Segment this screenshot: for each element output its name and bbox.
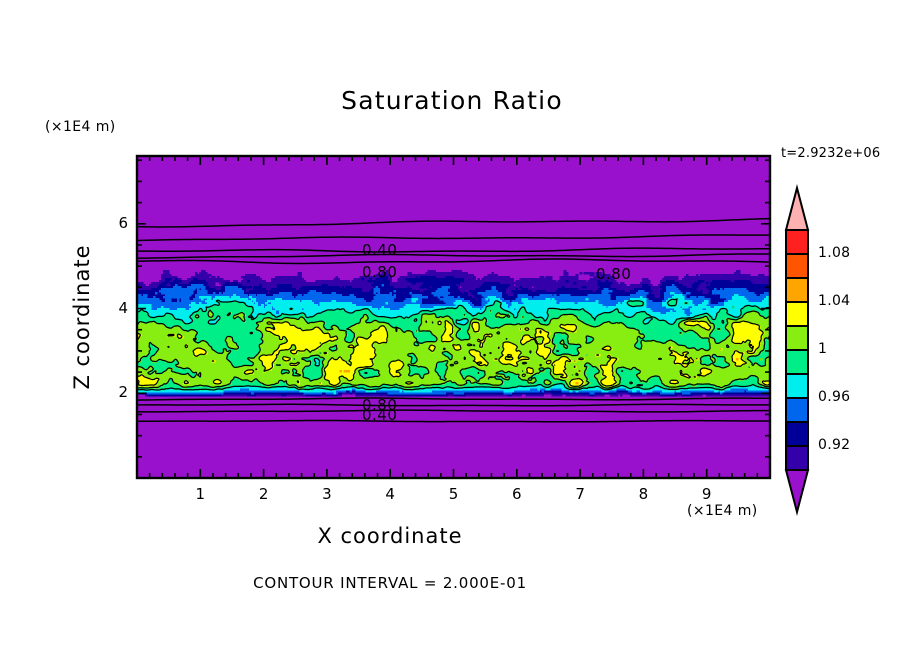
- colorbar-band: [786, 350, 808, 374]
- colorbar-band: [786, 278, 808, 302]
- x-tick-label: 3: [315, 485, 339, 503]
- x-tick-label: 2: [252, 485, 276, 503]
- y-tick-label: 6: [106, 214, 128, 232]
- x-tick-label: 8: [631, 485, 655, 503]
- scalar-field: [137, 156, 771, 478]
- contour-label: 0.40: [362, 241, 397, 259]
- contour-plot-canvas: [0, 0, 904, 654]
- colorbar-band: [786, 446, 808, 470]
- x-tick-label: 5: [442, 485, 466, 503]
- colorbar-tick-label: 1.04: [818, 293, 850, 309]
- contour-label: 0.80: [596, 265, 631, 283]
- colorbar-tick-label: 0.92: [818, 437, 850, 453]
- colorbar: [786, 188, 808, 512]
- colorbar-tick-label: 1: [818, 341, 827, 357]
- contour-label: 0.40: [362, 406, 397, 424]
- x-tick-label: 7: [568, 485, 592, 503]
- y-tick-label: 4: [106, 299, 128, 317]
- colorbar-band: [786, 302, 808, 326]
- colorbar-tick-label: 0.96: [818, 389, 850, 405]
- colorbar-band: [786, 374, 808, 398]
- x-tick-label: 4: [378, 485, 402, 503]
- y-tick-label: 2: [106, 383, 128, 401]
- colorbar-band: [786, 230, 808, 254]
- x-tick-label: 9: [695, 485, 719, 503]
- colorbar-band: [786, 422, 808, 446]
- x-tick-label: 1: [188, 485, 212, 503]
- colorbar-band: [786, 254, 808, 278]
- contour-label: 0.80: [362, 263, 397, 281]
- colorbar-band: [786, 326, 808, 350]
- x-tick-label: 6: [505, 485, 529, 503]
- saturation-ratio-figure: Saturation Ratio (×1E4 m) t=2.9232e+06 Z…: [0, 0, 904, 654]
- colorbar-tick-label: 1.08: [818, 245, 850, 261]
- colorbar-band: [786, 398, 808, 422]
